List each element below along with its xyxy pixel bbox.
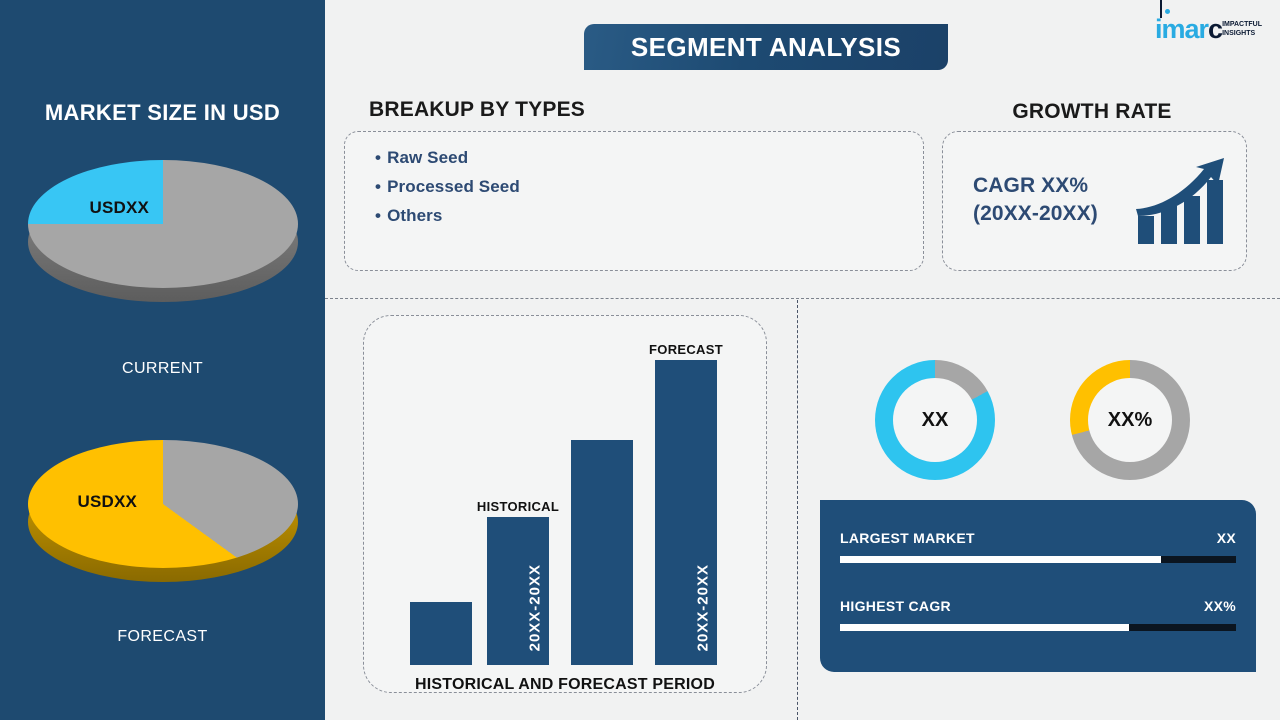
growth-arrow-chart-icon [1132, 154, 1228, 255]
type-label: Processed Seed [387, 177, 520, 196]
progress-track [840, 624, 1236, 631]
bar: 20XX-20XX [655, 360, 717, 665]
stat-highest-cagr: HIGHEST CAGR XX% [840, 598, 1236, 631]
stat-value: XX% [1204, 598, 1236, 614]
logo-word-c: c [1208, 14, 1222, 44]
percent-donut: XX% [1070, 360, 1190, 480]
forecast-pie-chart: USDXX FORECAST [0, 440, 325, 590]
pie-3d-forecast: USDXX [28, 440, 298, 590]
breakup-by-types-box: •Raw Seed •Processed Seed •Others [344, 131, 924, 271]
logo-wordmark: imarc [1155, 16, 1222, 43]
bar-chart-axis-title: HISTORICAL AND FORECAST PERIOD [363, 676, 767, 694]
count-donut: XX [875, 360, 995, 480]
list-item: •Processed Seed [375, 172, 520, 201]
bar-annotation-historical: HISTORICAL [477, 499, 559, 514]
progress-fill [840, 624, 1129, 631]
bullet-icon: • [375, 206, 381, 225]
growth-rate-box: CAGR XX% (20XX-20XX) [942, 131, 1247, 271]
pie-top-current [28, 160, 298, 288]
logo-dot-icon [1165, 9, 1170, 14]
bar-annotation-forecast: FORECAST [649, 342, 723, 357]
key-stats-panel: LARGEST MARKET XX HIGHEST CAGR XX% [820, 500, 1256, 672]
cagr-text: CAGR XX% (20XX-20XX) [973, 172, 1098, 228]
list-item: •Others [375, 201, 520, 230]
bar [410, 602, 472, 665]
bullet-icon: • [375, 148, 381, 167]
pie-top-forecast [28, 440, 298, 568]
progress-track [840, 556, 1236, 563]
forecast-pie-value: USDXX [78, 492, 138, 512]
logo-tagline-line2: INSIGHTS [1222, 29, 1262, 38]
sidebar-title: MARKET SIZE IN USD [0, 100, 325, 126]
breakup-by-types-heading: BREAKUP BY TYPES [369, 98, 585, 122]
bar [571, 440, 633, 665]
forecast-pie-caption: FORECAST [0, 628, 325, 646]
logo-divider [1160, 0, 1162, 18]
cagr-line-1: CAGR XX% [973, 172, 1098, 200]
vertical-divider [797, 300, 798, 720]
stat-label: LARGEST MARKET [840, 530, 975, 546]
current-pie-caption: CURRENT [0, 360, 325, 378]
bullet-icon: • [375, 177, 381, 196]
horizontal-divider [325, 298, 1280, 299]
type-label: Raw Seed [387, 148, 468, 167]
growth-rate-heading: GROWTH RATE [942, 100, 1242, 124]
market-size-sidebar: MARKET SIZE IN USD USDXX CURRENT USDXX F… [0, 0, 325, 720]
cagr-line-2: (20XX-20XX) [973, 200, 1098, 228]
logo-tagline-line1: IMPACTFUL [1222, 20, 1262, 29]
percent-donut-value: XX% [1088, 378, 1172, 462]
current-pie-chart: USDXX CURRENT [0, 160, 325, 310]
historical-forecast-bar-chart: 20XX-20XX 20XX-20XX HISTORICAL FORECAST [363, 315, 767, 693]
logo-tagline: IMPACTFUL INSIGHTS [1222, 20, 1262, 39]
types-list: •Raw Seed •Processed Seed •Others [375, 143, 520, 230]
pie-3d-current: USDXX [28, 160, 298, 310]
bar: 20XX-20XX [487, 517, 549, 665]
page-title: SEGMENT ANALYSIS [584, 24, 948, 70]
type-label: Others [387, 206, 442, 225]
bar-inner-label: 20XX-20XX [695, 564, 712, 651]
list-item: •Raw Seed [375, 143, 520, 172]
stat-label: HIGHEST CAGR [840, 598, 951, 614]
count-donut-value: XX [893, 378, 977, 462]
current-pie-value: USDXX [90, 198, 150, 218]
progress-fill [840, 556, 1161, 563]
logo-word-a: imar [1155, 14, 1208, 44]
stat-value: XX [1217, 530, 1236, 546]
stat-largest-market: LARGEST MARKET XX [840, 530, 1236, 563]
imarc-logo: imarc IMPACTFUL INSIGHTS [1155, 12, 1262, 46]
bar-inner-label: 20XX-20XX [527, 564, 544, 651]
